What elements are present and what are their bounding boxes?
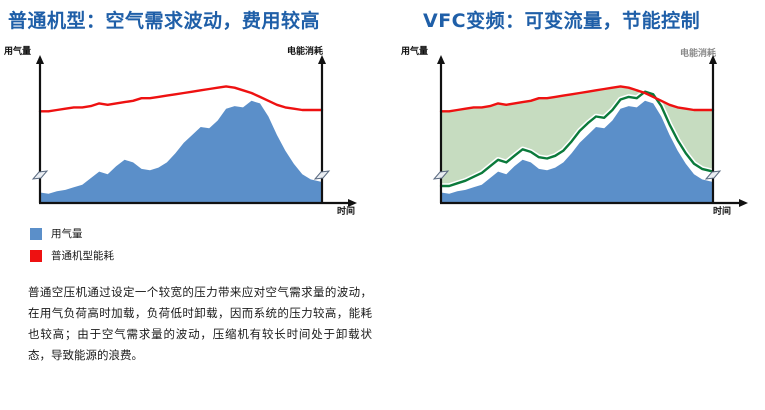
legend-item-label: 普通机型能耗 [51,248,114,263]
legend-item-label: 用气量 [51,226,83,241]
panel-standard-machine: 普通机型：空气需求波动，费用较高 用气量 电能消耗 时间 用气量 普通机型能耗 … [0,0,382,410]
panel-vfc-inverter: VFC变频：可变流量，节能控制 用气量 电能消耗 时间 用气量 VFC变频机节省… [383,0,765,410]
page-title-right: VFC变频：可变流量，节能控制 [423,6,700,33]
chart-svg-right [383,42,765,220]
description-text-left: 普通空压机通过设定一个较宽的压力带来应对空气需求量的波动，在用气负荷高时加载，负… [28,282,372,366]
legend-item: 普通机型能耗 [30,248,114,263]
chart-legend-left: 用气量 普通机型能耗 [30,226,114,270]
legend-swatch-icon [30,228,42,240]
chart-standard-machine: 用气量 电能消耗 时间 [0,42,382,220]
legend-swatch-icon [30,250,42,262]
comparison-infographic: 普通机型：空气需求波动，费用较高 用气量 电能消耗 时间 用气量 普通机型能耗 … [0,0,765,410]
page-title-left: 普通机型：空气需求波动，费用较高 [8,6,320,33]
legend-item: 用气量 [30,226,114,241]
chart-vfc-inverter: 用气量 电能消耗 时间 [383,42,765,220]
chart-svg-left [0,42,382,220]
